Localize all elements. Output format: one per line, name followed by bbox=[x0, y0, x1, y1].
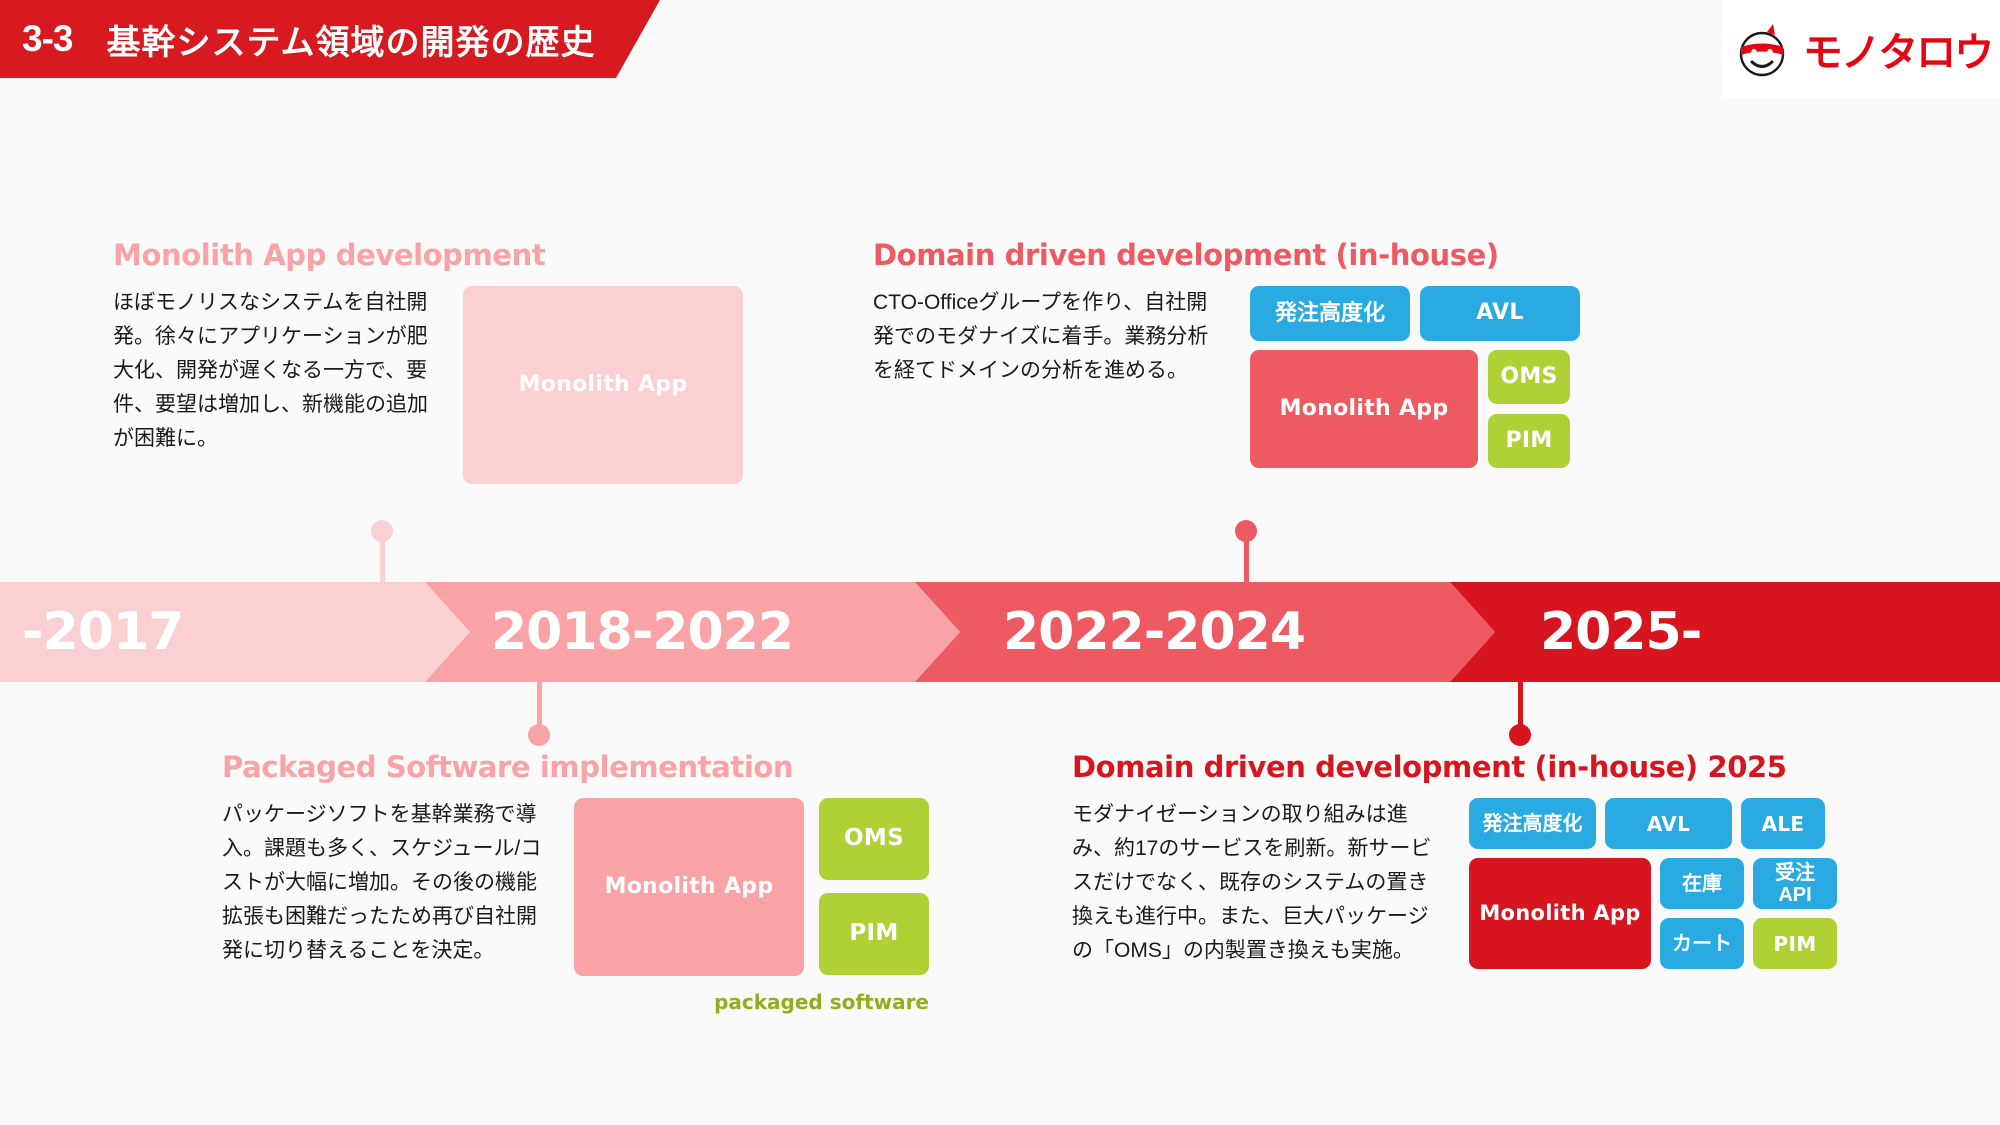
connector-dot bbox=[371, 520, 393, 542]
panel-description: CTO-Officeグループを作り、自社開発でのモダナイズに着手。業務分析を経て… bbox=[873, 286, 1228, 388]
diagram-box-cart[interactable]: カート bbox=[1660, 918, 1744, 969]
diagram-box-oms[interactable]: OMS bbox=[1488, 350, 1570, 404]
panel-packaged-software-implementation: Packaged Software implementation パッケージソフ… bbox=[222, 750, 962, 1014]
panel-description: モダナイゼーションの取り組みは進み、約17のサービスを刷新。新サービスだけでなく… bbox=[1072, 798, 1447, 968]
connector-2018-2022 bbox=[528, 680, 550, 746]
diagram-box-ale[interactable]: ALE bbox=[1741, 798, 1825, 849]
diagram-packaged-2018: Monolith App OMS PIM packaged software bbox=[574, 798, 929, 1014]
diagram-ddd-2022: 発注高度化 AVL Monolith App OMS PIM bbox=[1250, 286, 1580, 468]
panel-domain-driven-development: Domain driven development (in-house) CTO… bbox=[873, 238, 1593, 468]
diagram-box-juchu-api[interactable]: 受注 API bbox=[1753, 858, 1837, 909]
monotaro-logo-text: モノタロウ bbox=[1803, 20, 1992, 78]
diagram-box-hacchu-kodoka[interactable]: 発注高度化 bbox=[1250, 286, 1410, 341]
panel-title: Domain driven development (in-house) bbox=[873, 238, 1593, 272]
diagram-box-pim[interactable]: PIM bbox=[1488, 414, 1570, 468]
panel-domain-driven-development-2025: Domain driven development (in-house) 202… bbox=[1072, 750, 1992, 969]
diagram-box-monolith-app[interactable]: Monolith App bbox=[1250, 350, 1478, 468]
monotaro-face-icon bbox=[1731, 18, 1793, 80]
diagram-box-pim[interactable]: PIM bbox=[1753, 918, 1837, 969]
connector-dot bbox=[1235, 520, 1257, 542]
diagram-box-avl[interactable]: AVL bbox=[1605, 798, 1732, 849]
connector-stem bbox=[537, 680, 542, 730]
timeline-segment-2018-2022[interactable]: 2018-2022 bbox=[425, 582, 960, 682]
diagram-box-monolith-app[interactable]: Monolith App bbox=[463, 286, 743, 484]
connector-dot bbox=[1509, 724, 1531, 746]
diagram-caption-packaged-software: packaged software bbox=[574, 990, 929, 1014]
brand-logo: モノタロウ bbox=[1723, 0, 2000, 98]
section-number: 3-3 bbox=[22, 18, 72, 60]
timeline-label: 2018-2022 bbox=[491, 602, 793, 662]
connector-dot bbox=[528, 724, 550, 746]
timeline-label: -2017 bbox=[22, 602, 183, 662]
diagram-box-oms[interactable]: OMS bbox=[819, 798, 929, 880]
panel-title: Packaged Software implementation bbox=[222, 750, 962, 784]
connector-2017 bbox=[371, 520, 393, 584]
panel-description: ほぼモノリスなシステムを自社開発。徐々にアプリケーションが肥大化、開発が遅くなる… bbox=[113, 286, 438, 456]
diagram-ddd-2025: 発注高度化 AVL ALE Monolith App 在庫 カート 受注 API… bbox=[1469, 798, 1837, 969]
panel-title: Monolith App development bbox=[113, 238, 753, 272]
timeline-label: 2025- bbox=[1540, 602, 1701, 662]
diagram-box-avl[interactable]: AVL bbox=[1420, 286, 1580, 341]
page-header-banner: 3-3 基幹システム領域の開発の歴史 bbox=[0, 0, 660, 78]
panel-title: Domain driven development (in-house) 202… bbox=[1072, 750, 1992, 784]
diagram-box-monolith-app[interactable]: Monolith App bbox=[574, 798, 804, 976]
diagram-box-zaiko[interactable]: 在庫 bbox=[1660, 858, 1744, 909]
diagram-monolith-2017: Monolith App bbox=[463, 286, 743, 484]
connector-stem bbox=[1518, 680, 1523, 730]
diagram-box-pim[interactable]: PIM bbox=[819, 893, 929, 975]
page-title: 基幹システム領域の開発の歴史 bbox=[106, 15, 595, 64]
panel-description: パッケージソフトを基幹業務で導入。課題も多く、スケジュール/コストが大幅に増加。… bbox=[222, 798, 552, 968]
timeline-segment-2022-2024[interactable]: 2022-2024 bbox=[915, 582, 1495, 682]
panel-monolith-app-development: Monolith App development ほぼモノリスなシステムを自社開… bbox=[113, 238, 753, 484]
timeline-segment-2025[interactable]: 2025- bbox=[1450, 582, 2000, 682]
timeline-segment-2017[interactable]: -2017 bbox=[0, 582, 470, 682]
connector-2025 bbox=[1509, 680, 1531, 746]
diagram-box-monolith-app[interactable]: Monolith App bbox=[1469, 858, 1651, 969]
diagram-box-hacchu-kodoka[interactable]: 発注高度化 bbox=[1469, 798, 1596, 849]
timeline-label: 2022-2024 bbox=[1003, 602, 1305, 662]
connector-2022-2024 bbox=[1235, 520, 1257, 584]
timeline-bar: -2017 2018-2022 2022-2024 2025- bbox=[0, 582, 2000, 682]
